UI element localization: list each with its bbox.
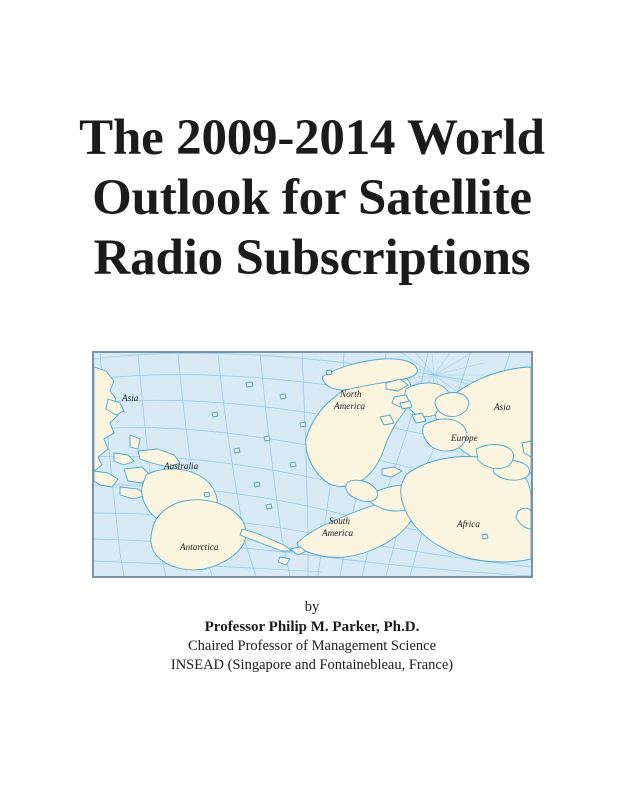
map-label-asia-east: Asia [493,402,511,412]
author-name: Professor Philip M. Parker, Ph.D. [0,617,624,637]
title-line-3: Radio Subscriptions [0,228,624,288]
map-label-south: South [329,516,350,526]
author-role: Chaired Professor of Management Science [0,637,624,656]
page-title: The 2009-2014 World Outlook for Satellit… [0,108,624,288]
title-line-1: The 2009-2014 World [0,108,624,168]
map-label-north: North [339,389,362,399]
land-iceland [400,401,412,409]
cover-page: The 2009-2014 World Outlook for Satellit… [0,0,624,800]
map-label-north-america: America [333,401,366,411]
world-map-svg: Asia Australia Antarctica North America … [94,353,531,576]
map-label-asia-west: Asia [121,393,139,403]
by-label: by [0,598,624,617]
map-label-europe: Europe [450,433,478,443]
map-label-australia: Australia [163,461,199,471]
author-affiliation: INSEAD (Singapore and Fontainebleau, Fra… [0,656,624,675]
title-line-2: Outlook for Satellite [0,168,624,228]
author-block: by Professor Philip M. Parker, Ph.D. Cha… [0,598,624,675]
map-label-africa: Africa [456,519,480,529]
map-label-antarctica: Antarctica [179,542,219,552]
map-label-south-america: America [321,528,354,538]
world-map-illustration: Asia Australia Antarctica North America … [92,351,533,578]
